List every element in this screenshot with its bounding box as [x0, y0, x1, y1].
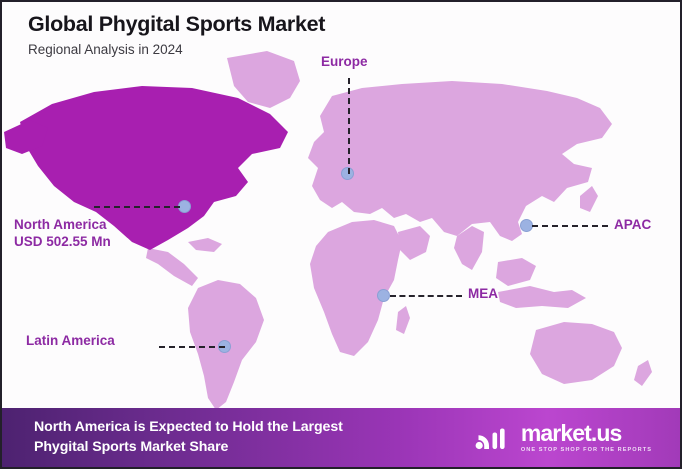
- footer-headline-line1: North America is Expected to Hold the La…: [34, 419, 343, 435]
- footer-headline: North America is Expected to Hold the La…: [34, 418, 343, 456]
- market-us-logo-icon: [475, 423, 512, 453]
- region-label-mea: MEA: [468, 286, 498, 303]
- landmass-new-zealand: [634, 360, 652, 386]
- leader-line-europe: [348, 78, 350, 174]
- landmass-africa: [310, 220, 402, 356]
- region-label-europe: Europe: [321, 54, 368, 71]
- leader-line-latin-america: [159, 346, 225, 348]
- region-label-europe-name: Europe: [321, 54, 368, 69]
- leader-line-mea: [390, 295, 462, 297]
- header: Global Phygital Sports Market Regional A…: [28, 12, 325, 58]
- landmass-indonesia: [498, 286, 586, 308]
- brand-logo[interactable]: market.us ONE STOP SHOP FOR THE REPORTS: [475, 422, 670, 454]
- landmass-arabia: [398, 226, 430, 260]
- region-label-north-america: North America USD 502.55 Mn: [14, 217, 111, 251]
- logo-wordmark: market.us: [521, 422, 622, 445]
- footer-headline-line2: Phygital Sports Market Share: [34, 438, 343, 457]
- landmass-australia: [530, 322, 622, 384]
- landmass-japan: [580, 186, 598, 212]
- logo-text: market.us ONE STOP SHOP FOR THE REPORTS: [521, 422, 652, 454]
- landmass-madagascar: [396, 306, 410, 334]
- landmass-southeast-asia: [496, 258, 536, 286]
- marker-mea[interactable]: [377, 289, 390, 302]
- region-label-north-america-name: North America: [14, 217, 107, 232]
- infographic-card: Global Phygital Sports Market Regional A…: [0, 0, 682, 469]
- logo-tagline: ONE STOP SHOP FOR THE REPORTS: [521, 448, 652, 454]
- leader-line-north-america: [94, 206, 180, 208]
- landmass-eurasia: [308, 81, 612, 241]
- landmass-central-america: [146, 248, 198, 286]
- page-subtitle: Regional Analysis in 2024: [28, 42, 325, 58]
- page-title: Global Phygital Sports Market: [28, 12, 325, 37]
- landmass-caribbean: [188, 238, 222, 252]
- region-label-apac-name: APAC: [614, 217, 651, 232]
- region-label-apac: APAC: [614, 217, 651, 234]
- region-label-latin-america-name: Latin America: [26, 333, 115, 348]
- region-value-north-america: USD 502.55 Mn: [14, 234, 111, 251]
- region-label-latin-america: Latin America: [26, 333, 115, 350]
- footer-banner: North America is Expected to Hold the La…: [2, 408, 682, 467]
- leader-line-apac: [532, 225, 608, 227]
- region-label-mea-name: MEA: [468, 286, 498, 301]
